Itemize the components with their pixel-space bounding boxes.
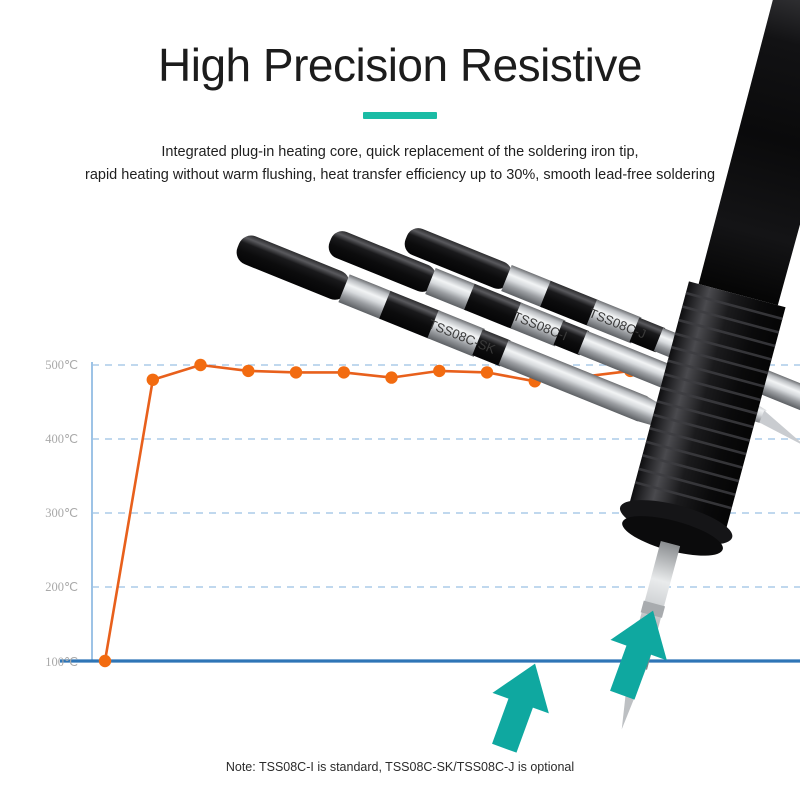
ytick-label-200: 200℃ xyxy=(45,580,78,594)
ytick-label-400: 400℃ xyxy=(45,432,78,446)
data-point-7 xyxy=(433,365,445,377)
data-point-8 xyxy=(481,366,493,378)
footnote: Note: TSS08C-I is standard, TSS08C-SK/TS… xyxy=(0,760,800,774)
ytick-label-500: 500℃ xyxy=(45,358,78,372)
data-point-12 xyxy=(672,365,684,377)
data-point-3 xyxy=(242,365,254,377)
data-point-6 xyxy=(385,371,397,383)
data-point-5 xyxy=(338,366,350,378)
data-point-4 xyxy=(290,366,302,378)
ytick-label-300: 300℃ xyxy=(45,506,78,520)
product-infographic: High Precision Resistive Integrated plug… xyxy=(0,0,800,800)
data-point-11 xyxy=(624,365,636,377)
chart-svg: 500℃ 400℃ 300℃ 200℃ 100℃ xyxy=(0,0,800,800)
chart-gridlines xyxy=(92,365,800,587)
data-point-9 xyxy=(529,375,541,387)
data-point-10 xyxy=(576,371,588,383)
ytick-label-100: 100℃ xyxy=(45,655,78,669)
data-point-0 xyxy=(99,655,111,667)
data-point-2 xyxy=(194,359,206,371)
temperature-chart: 500℃ 400℃ 300℃ 200℃ 100℃ xyxy=(0,0,800,800)
data-point-1 xyxy=(147,374,159,386)
